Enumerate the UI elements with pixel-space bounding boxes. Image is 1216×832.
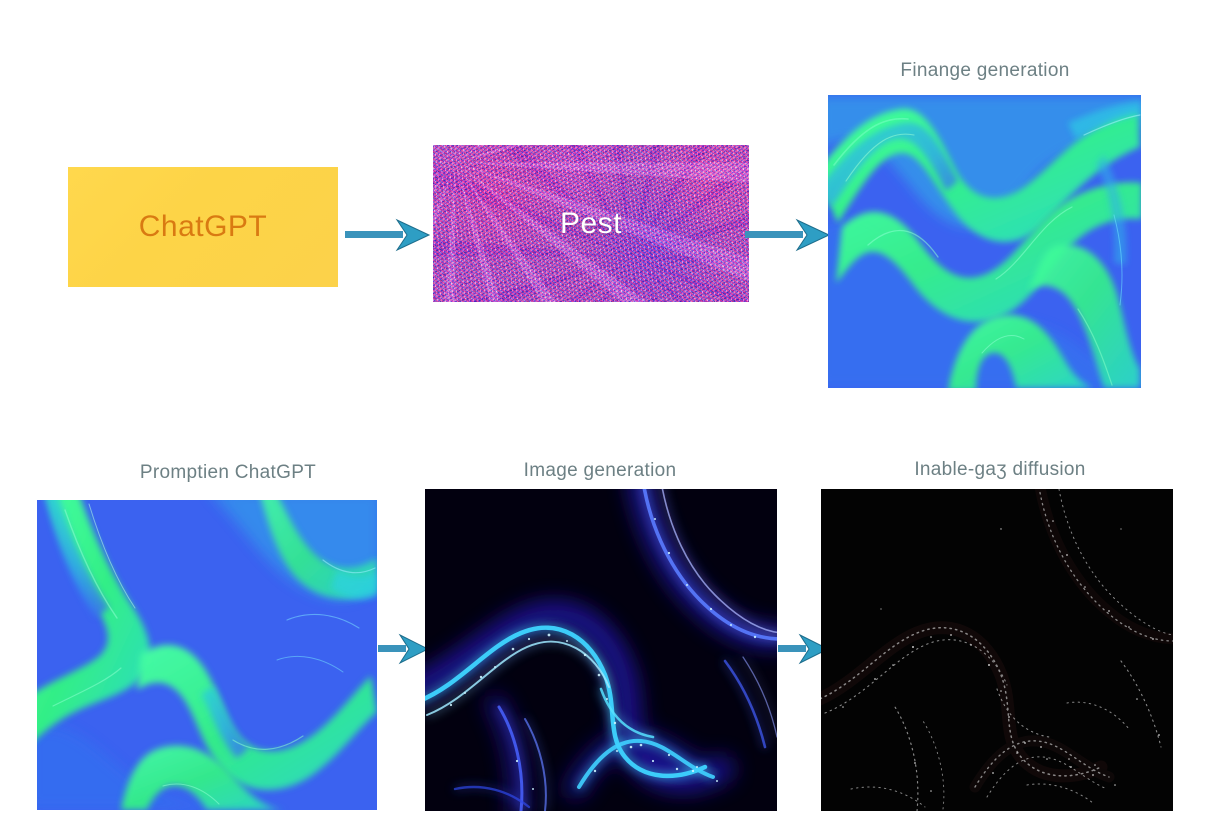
arrow-chatgpt-to-noise	[345, 218, 431, 252]
chatgpt-box[interactable]: ChatGPT	[68, 167, 338, 287]
arrow-flow-to-dark-middle	[378, 632, 430, 666]
caption-inable-gal-diffusion: Inable-gaʒ diffusion	[914, 459, 1085, 481]
dark-image-right[interactable]	[821, 489, 1173, 811]
caption-promptien-chatgpt: Promptien ChatGPT	[140, 462, 316, 484]
caption-image-generation: Image generation	[524, 460, 677, 482]
noise-image[interactable]: Pest	[433, 145, 749, 302]
noise-image-label: Pest	[560, 207, 622, 241]
caption-finange-generation: Finange generation	[900, 60, 1069, 82]
diagram-canvas: ChatGPT Pest Finange generation	[0, 0, 1216, 832]
arrow-noise-to-flow	[745, 218, 831, 252]
flow-image-bottom[interactable]	[37, 500, 377, 810]
flow-image-top[interactable]	[828, 95, 1141, 388]
dark-image-middle[interactable]	[425, 489, 777, 811]
chatgpt-box-label: ChatGPT	[139, 210, 268, 244]
